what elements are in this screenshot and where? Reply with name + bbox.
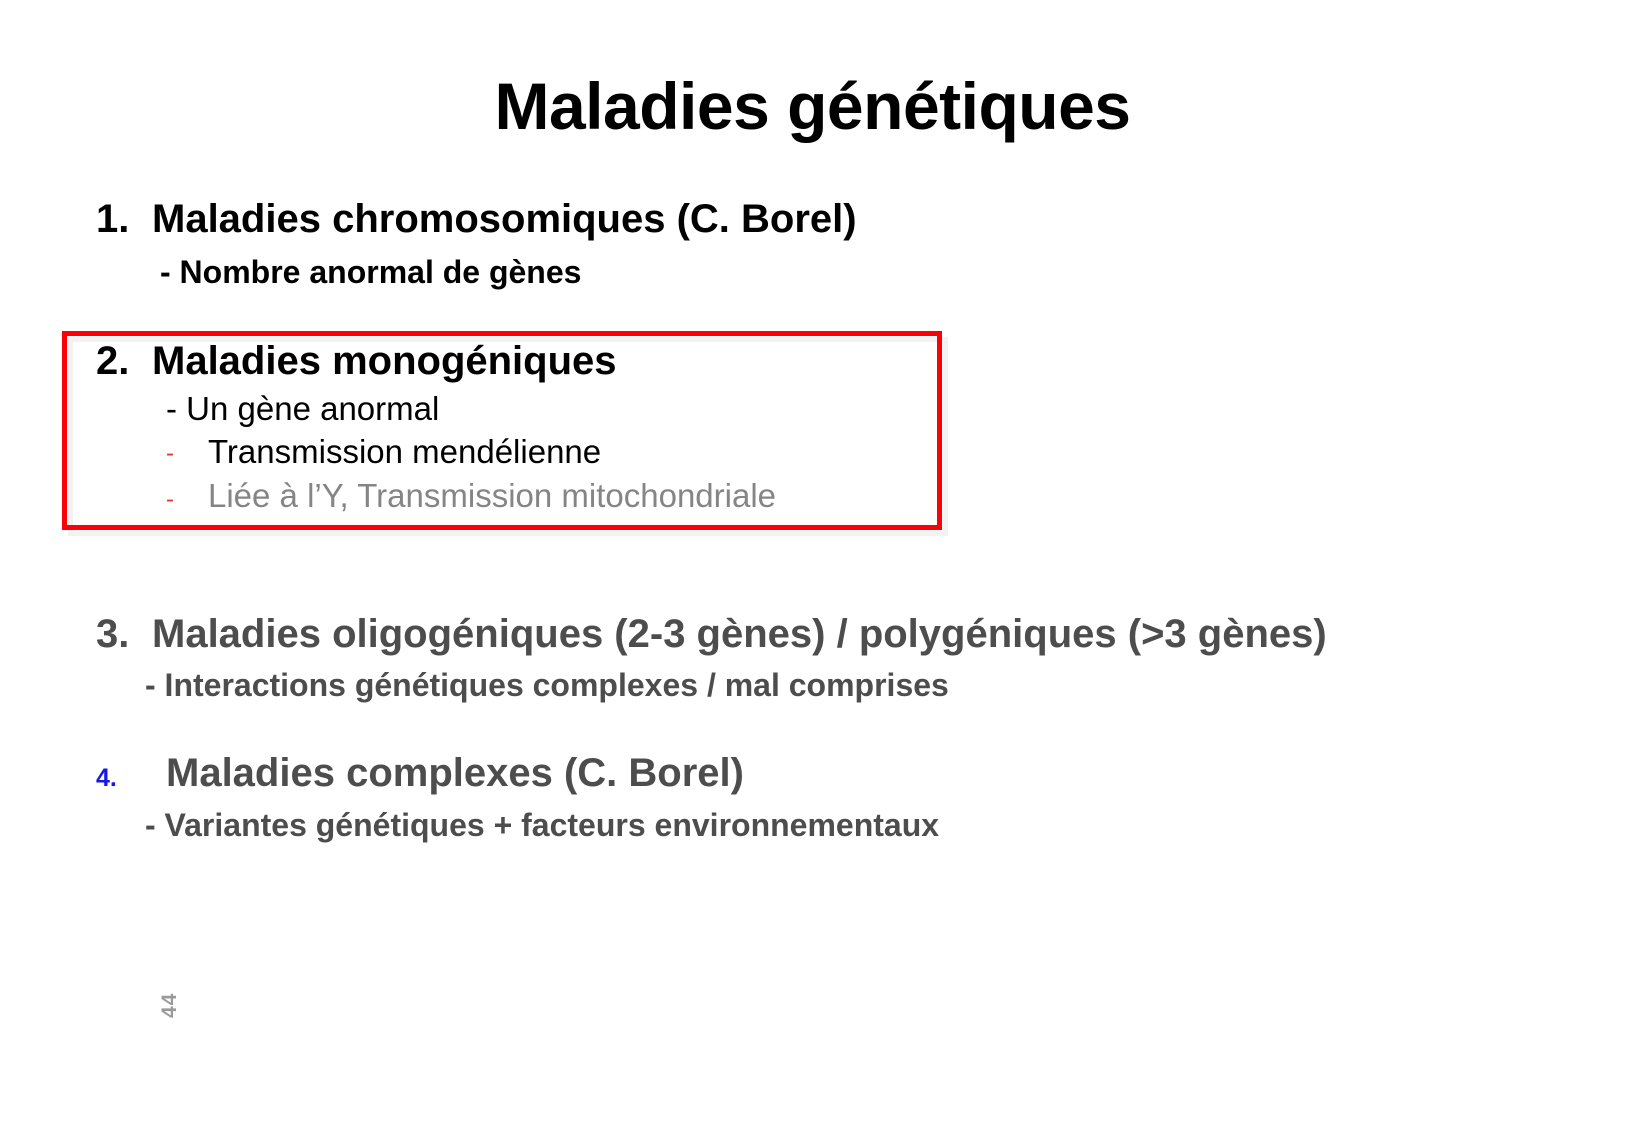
outline-item-4-number: 4. xyxy=(96,765,152,792)
outline-item-2-heading: Maladies monogéniques xyxy=(152,339,617,383)
outline-item-1-heading: Maladies chromosomiques (C. Borel) xyxy=(152,197,857,241)
outline-item-4-sub-1: - Variantes génétiques + facteurs enviro… xyxy=(145,808,939,843)
outline-item-2-sub-2: Transmission mendélienne xyxy=(208,434,601,470)
outline-item-2-sub-3-text: Liée à l’Y, Transmission mitochondriale xyxy=(208,477,776,514)
outline-item-2-sub-1-text: - Un gène anormal xyxy=(166,390,439,427)
slide-canvas: Maladies génétiques 1.Maladies chromosom… xyxy=(0,0,1625,1125)
outline-item-2-sub-3: Liée à l’Y, Transmission mitochondriale xyxy=(208,478,776,514)
outline-item-3: 3.Maladies oligogéniques (2-3 gènes) / p… xyxy=(96,613,1327,656)
outline-item-2-sub-2-dash-icon: - xyxy=(166,440,174,468)
slide-number-mark: 44 xyxy=(158,993,182,1018)
outline-item-2-number: 2. xyxy=(96,340,152,383)
outline-item-3-sub-1: - Interactions génétiques complexes / ma… xyxy=(145,668,949,703)
outline-item-4-sub-1-text: - Variantes génétiques + facteurs enviro… xyxy=(145,807,939,843)
outline-item-2-sub-3-dash-icon: - xyxy=(166,486,174,514)
outline-list: 1.Maladies chromosomiques (C. Borel) - N… xyxy=(0,0,1625,1125)
outline-item-3-heading: Maladies oligogéniques (2-3 gènes) / pol… xyxy=(152,612,1327,656)
outline-item-1: 1.Maladies chromosomiques (C. Borel) xyxy=(96,198,857,241)
outline-item-1-number: 1. xyxy=(96,198,152,241)
outline-item-2: 2.Maladies monogéniques xyxy=(96,340,617,383)
outline-item-4-heading: Maladies complexes (C. Borel) xyxy=(166,751,744,795)
outline-item-2-sub-1: - Un gène anormal xyxy=(166,391,439,427)
outline-item-3-sub-1-text: - Interactions génétiques complexes / ma… xyxy=(145,667,949,703)
outline-item-2-sub-2-text: Transmission mendélienne xyxy=(208,433,601,470)
outline-item-3-number: 3. xyxy=(96,613,152,656)
outline-item-4: 4.Maladies complexes (C. Borel) xyxy=(96,752,744,795)
outline-item-1-sub-1-text: - Nombre anormal de gènes xyxy=(160,254,581,290)
outline-item-1-sub-1: - Nombre anormal de gènes xyxy=(160,255,581,290)
